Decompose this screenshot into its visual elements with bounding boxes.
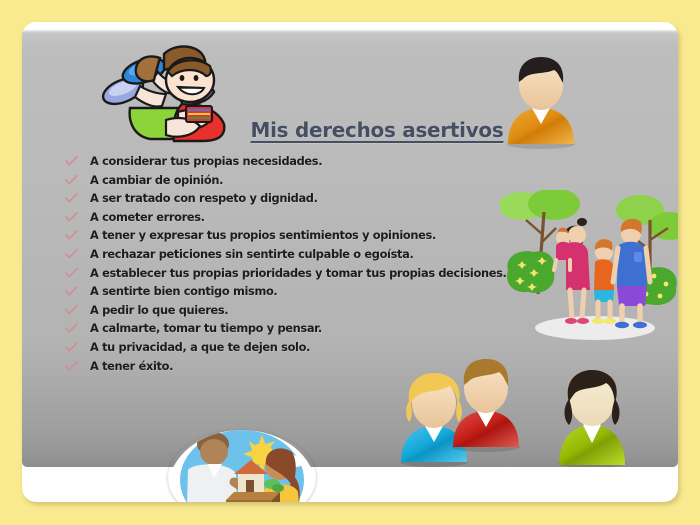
orange-male-avatar-icon <box>496 52 586 156</box>
list-item-label: A pedir lo que quieres. <box>90 301 228 320</box>
list-item: A considerar tus propias necesidades. <box>64 152 534 171</box>
list-item-label: A tener y expresar tus propios sentimien… <box>90 226 436 245</box>
list-item: A tener y expresar tus propios sentimien… <box>64 226 534 245</box>
list-item: A tu privacidad, a que te dejen solo. <box>64 338 534 357</box>
list-item: A sentirte bien contigo mismo. <box>64 282 534 301</box>
list-item: A pedir lo que quieres. <box>64 301 534 320</box>
list-item: A cometer errores. <box>64 208 534 227</box>
check-icon <box>64 338 90 357</box>
slide-card: Mis derechos asertivos A considerar tus … <box>22 22 678 502</box>
rights-list: A considerar tus propias necesidades. A … <box>64 152 534 375</box>
check-icon <box>64 189 90 208</box>
check-icon <box>64 264 90 283</box>
list-item-label: A sentirte bien contigo mismo. <box>90 282 277 301</box>
check-icon <box>64 152 90 171</box>
check-icon <box>64 245 90 264</box>
check-icon <box>64 357 90 376</box>
list-item-label: A tener éxito. <box>90 357 173 376</box>
list-item-label: A ser tratado con respeto y dignidad. <box>90 189 318 208</box>
list-item: A rechazar peticiones sin sentirte culpa… <box>64 245 534 264</box>
list-item-label: A rechazar peticiones sin sentirte culpa… <box>90 245 413 264</box>
check-icon <box>64 319 90 338</box>
check-icon <box>64 171 90 190</box>
list-item-label: A calmarte, tomar tu tiempo y pensar. <box>90 319 322 338</box>
list-item: A establecer tus propias prioridades y t… <box>64 264 534 283</box>
list-item-label: A cambiar de opinión. <box>90 171 223 190</box>
check-icon <box>64 208 90 227</box>
list-item-label: A tu privacidad, a que te dejen solo. <box>90 338 310 357</box>
list-item-label: A considerar tus propias necesidades. <box>90 152 322 171</box>
red-male-avatar-icon <box>441 355 531 459</box>
list-item-label: A cometer errores. <box>90 208 205 227</box>
check-icon <box>64 301 90 320</box>
green-female-avatar-icon <box>547 367 637 467</box>
list-item: A calmarte, tomar tu tiempo y pensar. <box>64 319 534 338</box>
check-icon <box>64 226 90 245</box>
girl-reading-book-illustration <box>78 44 228 154</box>
family-with-trees-illustration <box>500 190 678 350</box>
check-icon <box>64 282 90 301</box>
list-item: A cambiar de opinión. <box>64 171 534 190</box>
slide-stage: Mis derechos asertivos A considerar tus … <box>0 0 700 525</box>
page-title: Mis derechos asertivos <box>227 118 527 142</box>
list-item: A ser tratado con respeto y dignidad. <box>64 189 534 208</box>
slide-content-panel: Mis derechos asertivos A considerar tus … <box>22 30 678 467</box>
list-item-label: A establecer tus propias prioridades y t… <box>90 264 507 283</box>
